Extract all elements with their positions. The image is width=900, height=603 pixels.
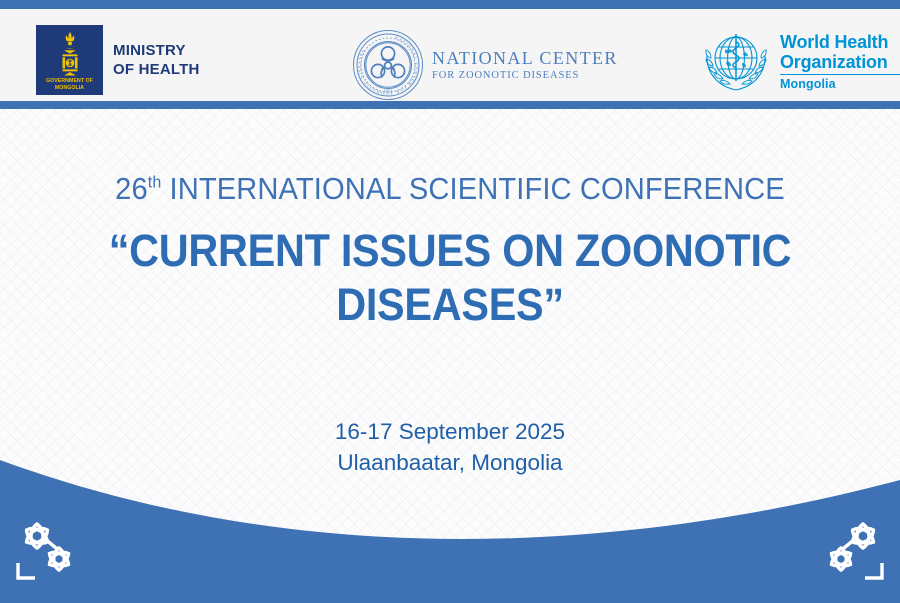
footer-wave-decoration [0, 458, 900, 603]
slide-body: 26th INTERNATIONAL SCIENTIFIC CONFERENCE… [0, 109, 900, 603]
ornament-left [14, 517, 90, 587]
kicker-number: 26 [115, 171, 148, 206]
logo-header: GOVERNMENT OF MONGOLIA MINISTRY OF HEALT… [0, 9, 900, 101]
ministry-of-health-wordmark: MINISTRY OF HEALTH [113, 41, 200, 79]
title-line-1: “CURRENT ISSUES ON ZOONOTIC [36, 224, 864, 278]
wave-blue-shape [0, 460, 900, 603]
page-title: “CURRENT ISSUES ON ZOONOTIC DISEASES” [36, 224, 864, 332]
logo-world-health-organization: World Health Organization Mongolia [701, 28, 900, 95]
soyombo-emblem: GOVERNMENT OF MONGOLIA [36, 25, 103, 95]
who-emblem-icon [701, 28, 771, 95]
conference-title-slide: GOVERNMENT OF MONGOLIA MINISTRY OF HEALT… [0, 0, 900, 603]
who-line-2: Organization [780, 52, 900, 72]
soyombo-icon [53, 31, 87, 77]
title-block: 26th INTERNATIONAL SCIENTIFIC CONFERENCE… [0, 109, 900, 478]
nczd-wordmark: NATIONAL CENTER FOR ZOONOTIC DISEASES [432, 49, 618, 82]
moh-line-1: MINISTRY [113, 41, 200, 60]
title-line-2: DISEASES” [36, 278, 864, 332]
header-divider-bar [0, 101, 900, 109]
who-divider [780, 74, 900, 76]
who-country-label: Mongolia [780, 77, 900, 91]
kicker-ordinal: th [148, 173, 162, 192]
nczd-line-1: NATIONAL CENTER [432, 49, 618, 67]
nczd-line-2: FOR ZOONOTIC DISEASES [432, 71, 618, 82]
emblem-caption: GOVERNMENT OF MONGOLIA [36, 78, 103, 92]
mongolian-knot-ornament-icon [14, 517, 90, 587]
mongolian-knot-ornament-icon [810, 517, 886, 587]
logo-national-center-zoonotic-diseases: NATIONAL CENTER FOR ZOONOTIC DISEASES 19… [352, 29, 618, 101]
seal-year: 1951 [383, 89, 393, 94]
emblem-caption-line1: GOVERNMENT OF [36, 78, 103, 85]
kicker-rest: INTERNATIONAL SCIENTIFIC CONFERENCE [161, 171, 784, 206]
top-accent-bar [0, 0, 900, 9]
emblem-caption-line2: MONGOLIA [36, 85, 103, 92]
event-date: 16-17 September 2025 [0, 416, 900, 447]
who-line-1: World Health [780, 32, 900, 52]
nczd-seal-biohazard-icon: NATIONAL CENTER FOR ZOONOTIC DISEASES 19… [352, 29, 424, 101]
moh-line-2: OF HEALTH [113, 60, 200, 79]
logo-ministry-of-health: GOVERNMENT OF MONGOLIA MINISTRY OF HEALT… [36, 25, 200, 95]
ornament-right [810, 517, 886, 587]
conference-kicker: 26th INTERNATIONAL SCIENTIFIC CONFERENCE [27, 171, 873, 207]
who-wordmark: World Health Organization Mongolia [780, 32, 900, 92]
